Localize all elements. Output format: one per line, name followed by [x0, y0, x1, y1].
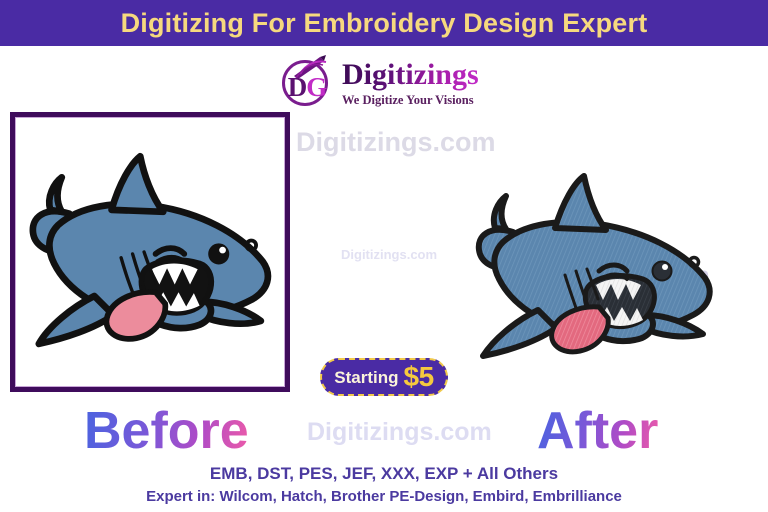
- page-title: Digitizing For Embroidery Design Expert: [121, 8, 648, 39]
- logo-tagline: We Digitize Your Visions: [342, 92, 479, 108]
- before-label: Before: [84, 403, 249, 459]
- brand-logo[interactable]: DG Digitizings We Digitize Your Visions: [278, 52, 493, 114]
- logo-text-block: Digitizings We Digitize Your Visions: [342, 59, 479, 108]
- after-label: After: [537, 403, 658, 459]
- watermark-middle: Digitizings.com: [341, 247, 437, 262]
- cartoon-shark-embroidered: [455, 140, 760, 372]
- logo-monogram: DG: [282, 70, 332, 104]
- cartoon-shark-vector: [12, 118, 280, 386]
- logo-badge: DG: [278, 54, 336, 112]
- price-value: $5: [404, 363, 434, 391]
- watermark-bottom: Digitizings.com: [307, 418, 492, 447]
- price-label: Starting: [334, 369, 398, 386]
- footer: EMB, DST, PES, JEF, XXX, EXP + All Other…: [0, 462, 768, 508]
- price-badge[interactable]: Starting $5: [320, 358, 448, 396]
- footer-formats: EMB, DST, PES, JEF, XXX, EXP + All Other…: [0, 462, 768, 486]
- logo-monogram-d: D: [288, 72, 307, 102]
- header-bar: Digitizing For Embroidery Design Expert: [0, 0, 768, 46]
- logo-monogram-g: G: [306, 72, 326, 102]
- logo-wordmark: Digitizings: [342, 59, 479, 91]
- footer-software: Expert in: Wilcom, Hatch, Brother PE-Des…: [0, 486, 768, 508]
- promo-banner: Digitizing For Embroidery Design Expert …: [0, 0, 768, 512]
